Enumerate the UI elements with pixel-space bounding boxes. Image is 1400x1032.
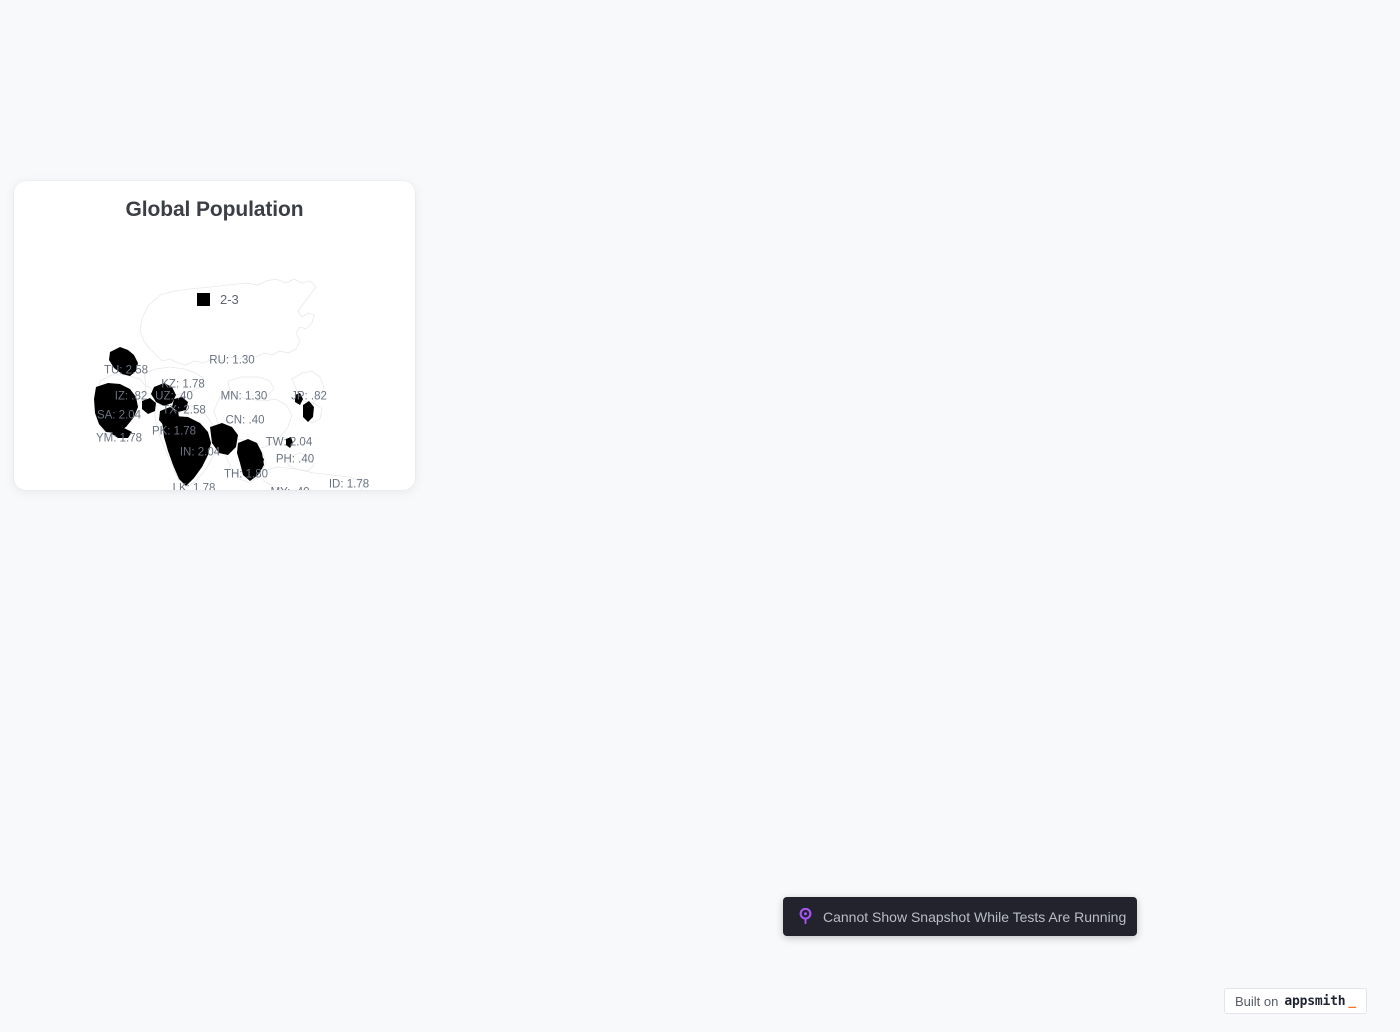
legend-swatch-icon xyxy=(197,293,210,306)
app-canvas: Global Population xyxy=(0,0,1400,1032)
built-on-appsmith-badge[interactable]: Built on appsmith_ xyxy=(1224,988,1367,1014)
location-pin-icon xyxy=(798,908,813,925)
global-population-map-widget[interactable]: Global Population xyxy=(14,181,415,490)
map-widget-title: Global Population xyxy=(14,198,415,222)
snapshot-toast[interactable]: Cannot Show Snapshot While Tests Are Run… xyxy=(783,897,1137,936)
legend-label: 2-3 xyxy=(220,292,239,307)
toast-message: Cannot Show Snapshot While Tests Are Run… xyxy=(823,909,1126,925)
map-canvas[interactable]: 2-3 TU: 2.58RU: 1.30KZ: 1.78IZ: .82UZ: .… xyxy=(14,221,415,490)
world-map-svg xyxy=(14,221,415,490)
appsmith-wordmark: appsmith xyxy=(1284,994,1345,1009)
map-legend: 2-3 xyxy=(197,292,239,307)
appsmith-cursor-icon: _ xyxy=(1348,994,1356,1009)
built-on-label: Built on xyxy=(1235,994,1278,1009)
